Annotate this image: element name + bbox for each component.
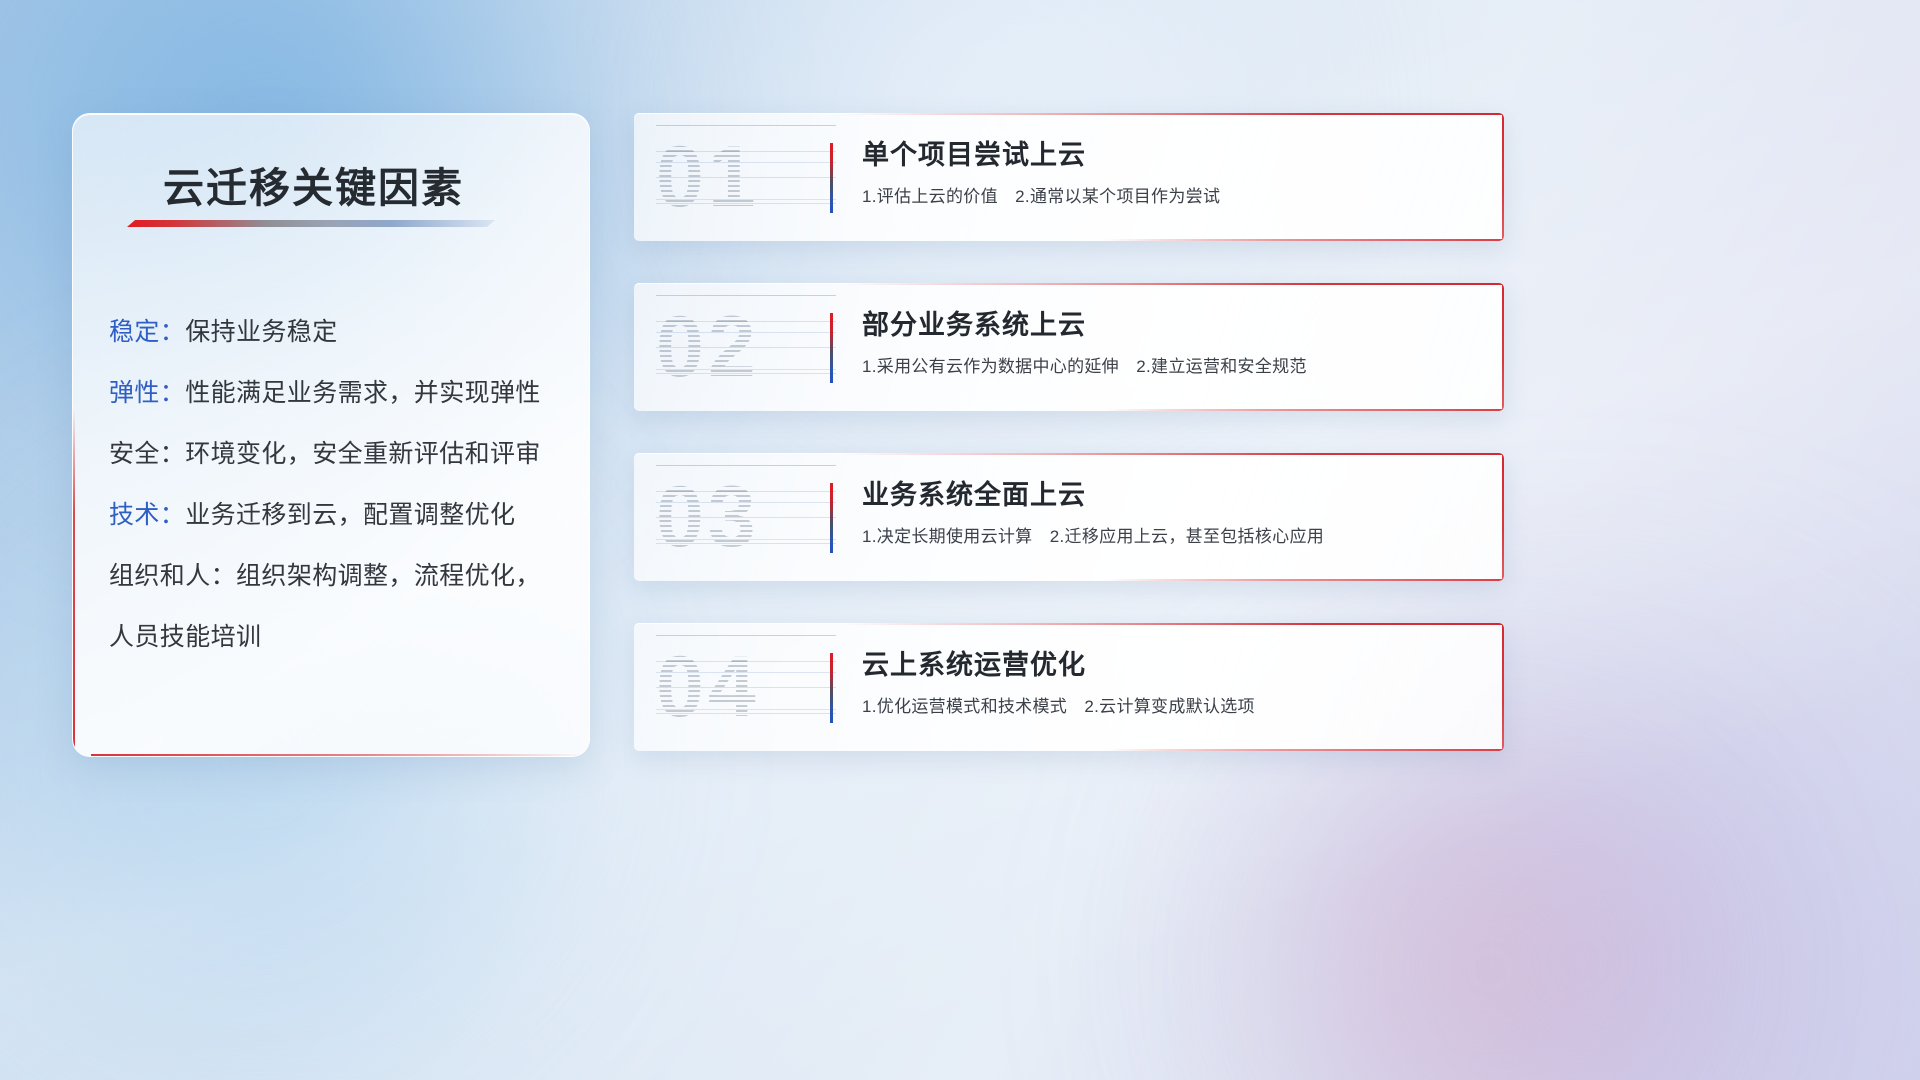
factor-label: 组织和人： [109, 562, 236, 590]
card-bottom-accent [1104, 409, 1504, 411]
card-right-accent [1502, 283, 1504, 411]
factor-value: 组织架构调整，流程优化， [236, 562, 541, 590]
factor-continuation-line: 人员技能培训 [109, 607, 565, 668]
list-item: 技术：业务迁移到云，配置调整优化 [109, 485, 565, 546]
stage-subtitle: 1.决定长期使用云计算 2.迁移应用上云，甚至包括核心应用 [862, 524, 1478, 550]
card-right-accent [1502, 453, 1504, 581]
card-divider-bar [830, 653, 833, 723]
factor-value: 性能满足业务需求，并实现弹性 [185, 379, 541, 407]
list-item: 弹性：性能满足业务需求，并实现弹性 [109, 363, 565, 424]
title-underline-accent [127, 220, 495, 227]
card-bottom-accent [1104, 749, 1504, 751]
card-right-accent [1502, 113, 1504, 241]
card-bottom-accent [1104, 239, 1504, 241]
stage-title: 单个项目尝试上云 [862, 135, 1478, 175]
factor-label: 稳定： [109, 318, 185, 346]
stage-subtitle: 1.评估上云的价值 2.通常以某个项目作为尝试 [862, 184, 1478, 210]
stage-title: 部分业务系统上云 [862, 305, 1478, 345]
key-factors-list: 稳定：保持业务稳定 弹性：性能满足业务需求，并实现弹性 安全：环境变化，安全重新… [109, 302, 565, 668]
stage-card-04[interactable]: 04 云上系统运营优化 1.优化运营模式和技术模式 2.云计算变成默认选项 [634, 623, 1504, 751]
card-top-accent [843, 623, 1504, 625]
card-top-accent [843, 453, 1504, 455]
card-body: 部分业务系统上云 1.采用公有云作为数据中心的延伸 2.建立运营和安全规范 [862, 305, 1478, 380]
stage-number-watermark: 02 [656, 295, 836, 399]
card-bottom-accent [1104, 579, 1504, 581]
card-body: 单个项目尝试上云 1.评估上云的价值 2.通常以某个项目作为尝试 [862, 135, 1478, 210]
stage-title: 业务系统全面上云 [862, 475, 1478, 515]
stage-number-watermark: 01 [656, 125, 836, 229]
factor-label: 技术： [109, 501, 185, 529]
card-divider-bar [830, 483, 833, 553]
card-divider-bar [830, 143, 833, 213]
stage-card-03[interactable]: 03 业务系统全面上云 1.决定长期使用云计算 2.迁移应用上云，甚至包括核心应… [634, 453, 1504, 581]
stage-card-02[interactable]: 02 部分业务系统上云 1.采用公有云作为数据中心的延伸 2.建立运营和安全规范 [634, 283, 1504, 411]
card-top-accent [843, 283, 1504, 285]
stage-subtitle: 1.采用公有云作为数据中心的延伸 2.建立运营和安全规范 [862, 354, 1478, 380]
list-item: 安全：环境变化，安全重新评估和评审 [109, 424, 565, 485]
card-divider-bar [830, 313, 833, 383]
card-body: 业务系统全面上云 1.决定长期使用云计算 2.迁移应用上云，甚至包括核心应用 [862, 475, 1478, 550]
factor-label: 弹性： [109, 379, 185, 407]
stage-title: 云上系统运营优化 [862, 645, 1478, 685]
stage-number-watermark: 03 [656, 465, 836, 569]
card-body: 云上系统运营优化 1.优化运营模式和技术模式 2.云计算变成默认选项 [862, 645, 1478, 720]
stage-subtitle: 1.优化运营模式和技术模式 2.云计算变成默认选项 [862, 694, 1478, 720]
factor-value: 保持业务稳定 [185, 318, 337, 346]
stage-number-watermark: 04 [656, 635, 836, 739]
factor-label: 安全： [109, 440, 185, 468]
card-right-accent [1502, 623, 1504, 751]
key-factors-panel: 云迁移关键因素 稳定：保持业务稳定 弹性：性能满足业务需求，并实现弹性 安全：环… [72, 113, 590, 757]
stage-card-01[interactable]: 01 单个项目尝试上云 1.评估上云的价值 2.通常以某个项目作为尝试 [634, 113, 1504, 241]
list-item: 组织和人：组织架构调整，流程优化， [109, 546, 565, 607]
card-top-accent [843, 113, 1504, 115]
list-item: 稳定：保持业务稳定 [109, 302, 565, 363]
page-title: 云迁移关键因素 [163, 154, 464, 214]
factor-value: 环境变化，安全重新评估和评审 [185, 440, 541, 468]
migration-stages-list: 01 单个项目尝试上云 1.评估上云的价值 2.通常以某个项目作为尝试 02 部… [634, 113, 1504, 751]
factor-value: 业务迁移到云，配置调整优化 [185, 501, 515, 529]
slide-stage: 云迁移关键因素 稳定：保持业务稳定 弹性：性能满足业务需求，并实现弹性 安全：环… [0, 0, 1920, 1080]
